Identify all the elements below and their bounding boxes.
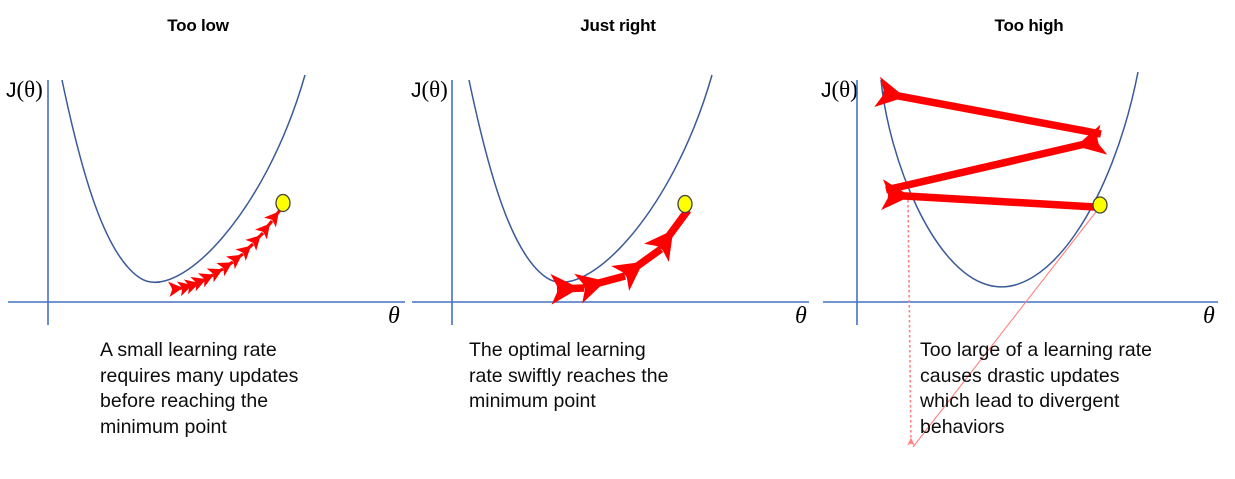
step-arrow [883, 93, 1101, 134]
start-point-dot [678, 196, 692, 213]
start-point-dot [276, 195, 290, 212]
panel-too-high: Too high J(θ) θ [823, 0, 1235, 479]
step-arrow [172, 288, 182, 289]
learning-rate-figure: Too low J(θ) θ [0, 0, 1235, 479]
start-point-dot [1093, 197, 1107, 213]
step-arrow [182, 286, 189, 288]
step-arrow [223, 262, 233, 268]
projection-dotted-line [908, 200, 911, 444]
gradient-step-arrows [557, 210, 688, 289]
step-arrow [584, 276, 625, 287]
step-arrow [625, 249, 661, 275]
step-arrow [557, 288, 584, 289]
step-arrow [204, 275, 213, 279]
caption-too-low: A small learning rate requires many upda… [100, 338, 345, 440]
step-arrow [660, 210, 688, 248]
step-arrow [243, 244, 253, 253]
step-arrow [196, 280, 204, 283]
step-arrow [213, 269, 223, 274]
gradient-step-arrows [172, 209, 281, 289]
cost-curve [62, 75, 305, 282]
divergent-step-arrows [883, 93, 1101, 207]
caption-just-right: The optimal learning rate swiftly reache… [469, 338, 739, 415]
step-arrow [189, 284, 196, 286]
step-arrow [253, 233, 263, 243]
cost-curve [469, 75, 712, 282]
step-arrow [233, 254, 243, 261]
panel-just-right: Just right J(θ) θ The [412, 0, 824, 479]
step-arrow [886, 141, 1098, 190]
step-arrow [263, 221, 272, 232]
caption-too-high: Too large of a learning rate causes dras… [920, 338, 1225, 440]
panel-too-low: Too low J(θ) θ [0, 0, 412, 479]
step-arrow [888, 195, 1095, 207]
